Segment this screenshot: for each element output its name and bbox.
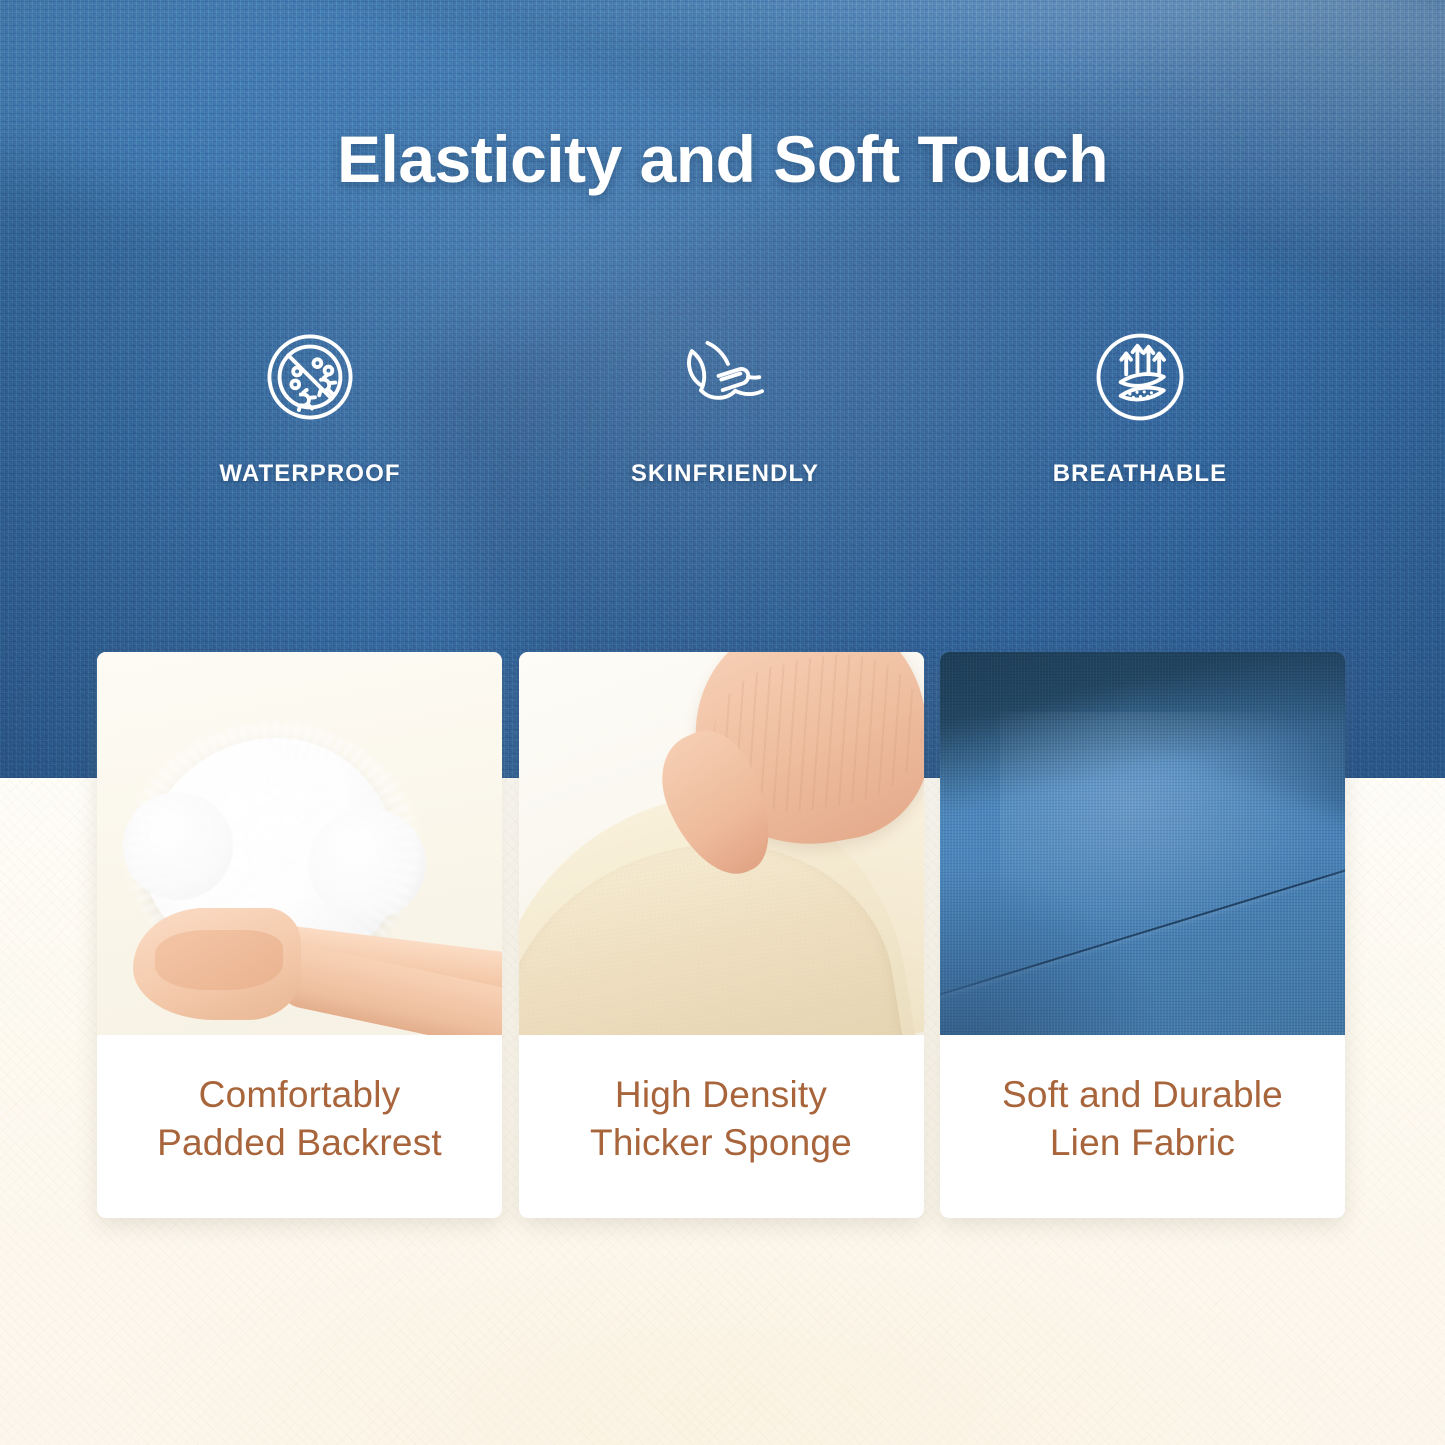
feature-card-padded-backrest[interactable]: ComfortablyPadded Backrest	[97, 652, 502, 1218]
feature-label-breathable: BREATHABLE	[1053, 460, 1228, 488]
no-bacteria-icon	[251, 318, 369, 436]
feature-item-waterproof: WATERPROOF	[160, 318, 460, 488]
feature-label-waterproof: WATERPROOF	[219, 460, 400, 488]
fingers	[155, 930, 283, 990]
card-caption-text: ComfortablyPadded Backrest	[157, 1071, 442, 1167]
fabric-shadow-bottom-left	[940, 865, 1170, 1035]
caption-line-1: Comfortably	[199, 1074, 401, 1115]
hand-bending-foam-sponge-photo	[519, 652, 924, 1035]
caption-line-2: Padded Backrest	[157, 1122, 442, 1163]
caption-line-1: Soft and Durable	[1002, 1074, 1283, 1115]
card-caption: Soft and DurableLien Fabric	[940, 1035, 1345, 1218]
feature-label-skinfriendly: SKINFRIENDLY	[631, 460, 819, 488]
card-caption-text: High DensityThicker Sponge	[590, 1071, 852, 1167]
feature-icon-row: WATERPROOF SKINFRIENDLY	[160, 318, 1290, 488]
hand-touching-fabric-icon	[666, 318, 784, 436]
caption-line-1: High Density	[615, 1074, 827, 1115]
caption-line-2: Lien Fabric	[1050, 1122, 1235, 1163]
blue-linen-fabric-photo	[940, 652, 1345, 1035]
card-caption-text: Soft and DurableLien Fabric	[1002, 1071, 1283, 1167]
feature-item-breathable: BREATHABLE	[990, 318, 1290, 488]
hand-holding-fiberfill-photo	[97, 652, 502, 1035]
card-caption: High DensityThicker Sponge	[519, 1035, 924, 1218]
feature-card-lien-fabric[interactable]: Soft and DurableLien Fabric	[940, 652, 1345, 1218]
product-feature-banner: Elasticity and Soft Touch	[0, 0, 1445, 1445]
caption-line-2: Thicker Sponge	[590, 1122, 852, 1163]
feature-card-thicker-sponge[interactable]: High DensityThicker Sponge	[519, 652, 924, 1218]
card-caption: ComfortablyPadded Backrest	[97, 1035, 502, 1218]
feature-card-row: ComfortablyPadded Backrest High DensityT…	[97, 652, 1345, 1218]
breathable-airflow-icon	[1081, 318, 1199, 436]
page-title: Elasticity and Soft Touch	[0, 120, 1445, 198]
feature-item-skinfriendly: SKINFRIENDLY	[575, 318, 875, 488]
